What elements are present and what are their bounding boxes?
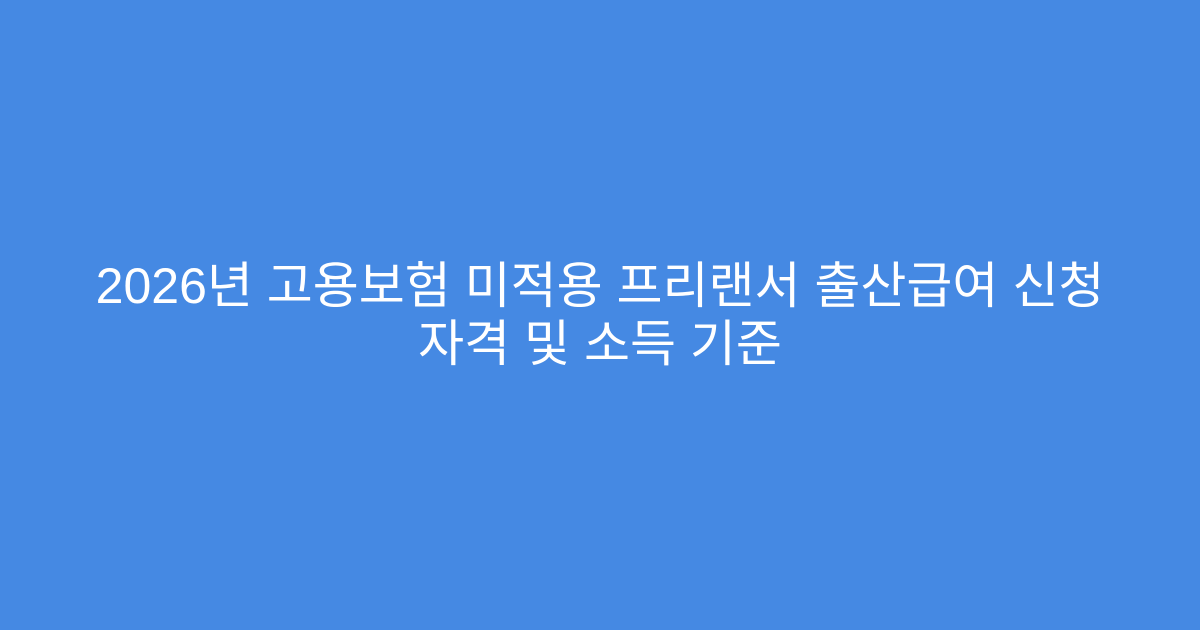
page-title: 2026년 고용보험 미적용 프리랜서 출산급여 신청 자격 및 소득 기준	[50, 257, 1150, 373]
thumbnail-card: 2026년 고용보험 미적용 프리랜서 출산급여 신청 자격 및 소득 기준	[0, 0, 1200, 630]
title-line-1: 2026년 고용보험 미적용 프리랜서 출산급여 신청	[80, 257, 1120, 315]
title-line-2: 자격 및 소득 기준	[80, 315, 1120, 373]
